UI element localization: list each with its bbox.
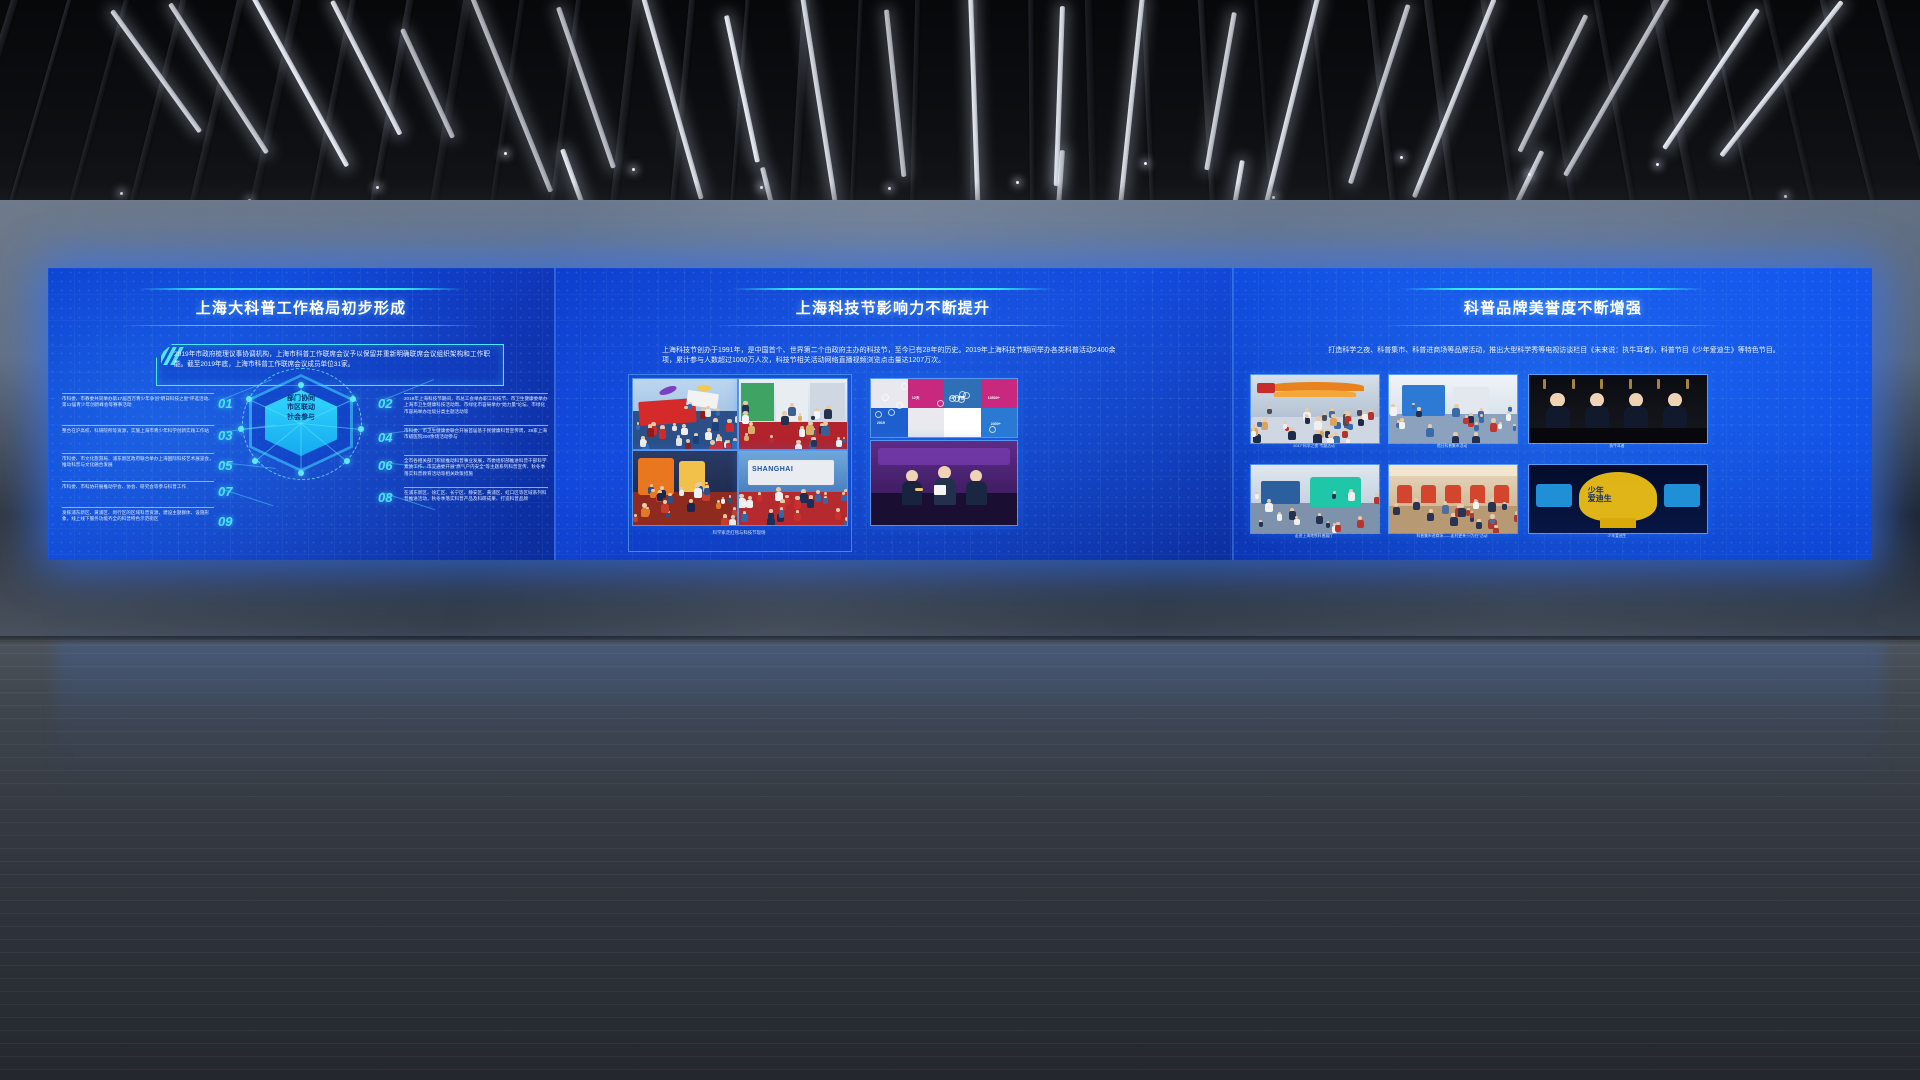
person-head: [970, 470, 982, 482]
person-body: [1458, 508, 1465, 517]
person-body: [824, 409, 832, 419]
person-body: [781, 416, 789, 425]
person-body: [1393, 507, 1400, 515]
left-diagram: 部门协同 市区联动 社会参与 市科委、市教委共同举办第17届百万青少年争创"明日…: [48, 268, 554, 560]
person-body: [841, 495, 846, 501]
person-body: [1374, 497, 1380, 504]
diagram-item: 发挥浦东新区、黄浦区、闵行区的区域科普资源，建设主题群体、设施形象，线上线下服务…: [62, 510, 214, 523]
person-body: [1476, 522, 1482, 529]
person-body: [729, 519, 736, 526]
person-body: [1502, 504, 1507, 509]
person-body: [902, 481, 922, 505]
diagram-item: 市科委、市科协开展推动学会、协会、研究会等参与科普工作: [62, 484, 214, 490]
diagram-item: 市科委、市卫生健康委联合开展首届基于民健康科普宣传周，38家上海市级医院200余…: [404, 428, 548, 441]
panel-right-title: 科普品牌美誉度不断增强: [1362, 297, 1744, 318]
person-body: [769, 438, 774, 444]
person-body: [742, 415, 749, 424]
shanghai-text: SHANGHAI: [752, 466, 793, 473]
photo-award-handshake[interactable]: [870, 440, 1018, 526]
ceiling-light-strip: [400, 28, 455, 139]
photo-corner-marker: [1370, 524, 1380, 534]
shape: [739, 492, 847, 525]
photo-corner-marker: [1250, 464, 1260, 474]
heading-rule-bottom: [714, 325, 1072, 326]
person-body: [1357, 520, 1364, 528]
photo-science-festival-stage-content: [633, 451, 737, 525]
person-body: [1514, 515, 1518, 523]
person-body: [647, 428, 654, 436]
photo-right-0-content: [1251, 375, 1379, 443]
diagram-item-underline: [404, 455, 548, 456]
poster-stat-label: 12天: [912, 396, 920, 401]
diagram-spoke: [301, 424, 302, 474]
panel-right: 科普品牌美誉度不断增强 打造科学之夜、科普集市、科普进商场等品牌活动，推出大型科…: [1232, 268, 1872, 560]
shape: [981, 379, 1018, 408]
photo-right-1[interactable]: [1388, 374, 1518, 444]
person-body: [1442, 505, 1449, 514]
wall-floor-edge: [0, 636, 1920, 646]
diagram-item: 整合在沪高校、科研院所等资源，实施上海市青少年科学创新实践工作站: [62, 428, 214, 434]
person-body: [1470, 513, 1474, 518]
diagram-item-underline: [62, 453, 214, 454]
photo-corner-marker: [1508, 374, 1518, 384]
photo-corner-marker: [1698, 374, 1708, 384]
photo-corner-marker: [1698, 434, 1708, 444]
person-body: [821, 426, 829, 436]
shape: [697, 385, 711, 391]
person-body: [757, 495, 763, 502]
photo-corner-marker: [1370, 434, 1380, 444]
person-body: [807, 499, 814, 508]
person-body: [1368, 412, 1374, 420]
shape: [1389, 465, 1517, 476]
photo-corner-marker: [1008, 440, 1018, 450]
person-body: [715, 441, 723, 450]
shape: [1529, 428, 1707, 443]
person-head: [1629, 393, 1643, 407]
person-body: [1452, 408, 1460, 417]
person-body: [704, 488, 710, 495]
person-body: [693, 436, 699, 443]
photo-award-handshake-content: [871, 441, 1017, 525]
person-body: [1314, 421, 1322, 430]
person-body: [1468, 416, 1474, 423]
shape: [1600, 379, 1603, 389]
person-body: [1283, 424, 1287, 429]
photo-right-1-content: [1389, 375, 1517, 443]
person-body: [1473, 502, 1478, 508]
photo-corner-marker: [1388, 434, 1398, 444]
person-body: [1490, 423, 1498, 432]
diagram-item: 2019年上海科技节期间，市总工会举办职工科技节、市卫生健康委举办上海市卫生健康…: [404, 396, 548, 415]
person-body: [1316, 516, 1322, 524]
shape: [1657, 379, 1660, 389]
ceiling-light-strip: [1517, 14, 1588, 153]
person-body: [1463, 418, 1468, 424]
photo-red-carpet-guests-content: [739, 379, 847, 449]
person-body: [712, 422, 720, 431]
photo-corner-marker: [1388, 374, 1398, 384]
photo-corner-marker: [1388, 524, 1398, 534]
diagram-item-underline: [62, 481, 214, 482]
diagram-item-number: 09: [218, 514, 232, 529]
poster-stat-label: 10500+: [988, 396, 1000, 400]
shape: [638, 458, 673, 495]
person-body: [679, 490, 684, 496]
photo-caption: 2017"科学之夜"专题活动: [1250, 444, 1378, 449]
photo-corner-marker: [1698, 524, 1708, 534]
photo-shanghai-banner[interactable]: SHANGHAI: [738, 450, 848, 526]
person-body: [1294, 519, 1299, 526]
floor: [0, 640, 1920, 1080]
diagram-spoke: [301, 386, 302, 424]
person-body: [716, 411, 720, 416]
photo-corner-marker: [1528, 464, 1538, 474]
person-body: [844, 521, 848, 526]
photo-right-2[interactable]: [1528, 374, 1708, 444]
photo-caption: 走进上海地铁科普展厅: [1250, 534, 1378, 539]
diagram-item-number: 06: [378, 458, 392, 473]
photo-corner-marker: [1008, 516, 1018, 526]
person-body: [1450, 517, 1458, 526]
person-body: [1479, 417, 1484, 423]
panel-right-body: 打造科学之夜、科普集市、科普进商场等品牌活动，推出大型科学秀等电视访谈栏目《未来…: [1304, 346, 1804, 356]
photo-corner-marker: [1508, 524, 1518, 534]
shape: [1600, 518, 1636, 528]
photo-caption: 科学家走红毯与科技节现场: [632, 530, 846, 536]
heading-rule-bottom: [1384, 325, 1722, 326]
scene-root: 上海大科普工作格局初步形成 2019年市政府梳理议事协调机构，上海市科普工作联席…: [0, 0, 1920, 1080]
photo-corner-marker: [1370, 464, 1380, 474]
person-body: [768, 513, 774, 520]
photo-data-poster-grid-content: 12天16个专区10500+2019科普集市2400+: [871, 379, 1017, 437]
person-body: [676, 438, 682, 445]
shape: [878, 448, 1009, 465]
shape: [1494, 485, 1509, 503]
ceiling-light-strip: [640, 0, 704, 200]
poster-icon: [888, 409, 895, 416]
person-body: [1333, 436, 1340, 444]
person-body: [1277, 514, 1282, 520]
person-body: [705, 432, 712, 440]
person-body: [1322, 415, 1327, 421]
person-body: [1335, 525, 1341, 532]
person-body: [726, 443, 731, 449]
diagram-item: 市科委、市文化旅游局、浦东新区政府联合举办上海国际科技艺术展览会，推动科普与文化…: [62, 456, 214, 469]
ceiling-light-strip: [1262, 0, 1321, 213]
ceiling-light-strip: [1412, 0, 1497, 198]
ceiling-spot-light: [1656, 163, 1659, 166]
person-body: [661, 504, 669, 513]
person-body: [1490, 519, 1495, 524]
shape: [1445, 485, 1460, 503]
ceiling-light-strip: [470, 0, 553, 193]
person-body: [1474, 425, 1479, 432]
screen-reflection: [55, 640, 1885, 790]
photo-opening-ceremony-content: [633, 379, 737, 449]
photo-caption: 少年爱迪生: [1528, 534, 1706, 539]
photo-right-4[interactable]: [1388, 464, 1518, 534]
person-body: [815, 494, 822, 502]
person-body: [1261, 422, 1268, 430]
shape: [934, 485, 946, 495]
ceiling-spot-light: [1400, 156, 1403, 159]
person-body: [1257, 422, 1262, 428]
diagram-item-underline: [62, 425, 214, 426]
diagram-item: 在浦东新区、徐汇区、长宁区、静安区、黄浦区、虹口区等区域系列科普推进活动，秋冬季…: [404, 490, 548, 503]
photo-science-festival-stage[interactable]: [632, 450, 738, 526]
edison-logo-text: 少年爱迪生: [1588, 487, 1612, 503]
poster-stat-label: 科普集市: [953, 422, 967, 427]
person-body: [811, 440, 817, 447]
shape: [1543, 379, 1546, 389]
panel-divider-2: [1232, 268, 1234, 560]
person-body: [836, 440, 842, 447]
person-body: [966, 481, 986, 505]
photo-caption: 馆日科普集市活动: [1388, 444, 1516, 449]
person-body: [1313, 434, 1321, 444]
ceiling-spot-light: [504, 152, 507, 155]
person-body: [1288, 431, 1296, 440]
photo-data-poster-grid[interactable]: 12天16个专区10500+2019科普集市2400+: [870, 378, 1018, 438]
person-body: [1472, 436, 1480, 444]
panel-middle: 上海科技节影响力不断提升 上海科技节创办于1991年，是中国首个、世界第二个由政…: [554, 268, 1232, 560]
panel-right-heading: 科普品牌美誉度不断增强: [1362, 288, 1744, 326]
diagram-item-underline: [404, 425, 548, 426]
person-body: [721, 518, 728, 526]
shape: [1397, 485, 1412, 503]
person-body: [1348, 492, 1355, 500]
diagram-item: 市科委、市教委共同举办第17届百万青少年争创"明日科技之星"评选活动、第12届青…: [62, 396, 214, 409]
person-body: [1399, 422, 1405, 429]
photo-corner-marker: [1508, 464, 1518, 474]
photo-corner-marker: [1698, 464, 1708, 474]
photo-caption: 科普集市进商场——走村更亲·只为在"活动: [1388, 534, 1516, 539]
led-video-wall[interactable]: 上海大科普工作格局初步形成 2019年市政府梳理议事协调机构，上海市科普工作联席…: [48, 268, 1872, 560]
person-body: [694, 488, 702, 498]
panel-middle-heading: 上海科技节影响力不断提升: [702, 288, 1084, 326]
person-body: [687, 503, 695, 512]
person-body: [1265, 503, 1273, 512]
person-body: [633, 517, 637, 522]
photo-opening-ceremony[interactable]: [632, 378, 738, 450]
person-body: [726, 423, 734, 432]
person-body: [667, 496, 673, 503]
person-body: [811, 416, 815, 420]
person-body: [1413, 502, 1420, 511]
shape: [1421, 485, 1436, 503]
poster-icon: [875, 411, 882, 418]
person-body: [814, 411, 820, 418]
shape: [739, 422, 847, 449]
photo-corner-marker: [1250, 434, 1260, 444]
person-body: [1362, 414, 1367, 420]
person-body: [1267, 409, 1271, 414]
person-body: [1488, 502, 1496, 512]
shape: [1274, 390, 1356, 397]
photo-corner-marker: [1528, 374, 1538, 384]
person-body: [659, 429, 667, 438]
person-body: [1348, 424, 1353, 430]
person-body: [779, 510, 785, 517]
person-body: [1390, 407, 1397, 415]
photo-shanghai-banner-content: SHANGHAI: [739, 451, 847, 525]
panel-divider-1: [554, 268, 556, 560]
photo-corner-marker: [870, 516, 880, 526]
person-body: [788, 407, 796, 416]
person-head: [906, 470, 918, 482]
shape: [1402, 385, 1446, 416]
shape: [908, 408, 945, 437]
person-body: [823, 498, 828, 503]
person-body: [685, 443, 692, 450]
person-body: [657, 493, 663, 500]
shape: [915, 488, 923, 491]
photo-corner-marker: [870, 440, 880, 450]
diagram-item-number: 05: [218, 458, 232, 473]
photo-right-3[interactable]: [1250, 464, 1380, 534]
person-head: [1550, 393, 1564, 407]
person-body: [1427, 513, 1434, 521]
ceiling-light-strip: [884, 9, 907, 177]
person-body: [1357, 410, 1362, 416]
person-body: [746, 500, 753, 508]
person-body: [835, 512, 842, 520]
diagram-item-underline: [404, 393, 548, 394]
ceiling-light-strip: [168, 2, 269, 154]
person-body: [748, 426, 755, 434]
person-body: [672, 426, 677, 431]
person-body: [716, 503, 722, 510]
photo-red-carpet-guests[interactable]: [738, 378, 848, 450]
photo-corner-marker: [1388, 464, 1398, 474]
person-body: [1506, 414, 1511, 421]
panel-middle-body: 上海科技节创办于1991年，是中国首个、世界第二个由政府主办的科技节，至今已有2…: [662, 346, 1128, 366]
person-body: [798, 416, 802, 421]
person-body: [681, 428, 687, 436]
person-body: [744, 436, 748, 441]
diagram-item-underline: [62, 393, 214, 394]
diagram-item-underline: [404, 487, 548, 488]
person-body: [738, 498, 746, 508]
panel-middle-title: 上海科技节影响力不断提升: [702, 297, 1084, 318]
ceiling-spot-light: [632, 168, 635, 171]
panel-left: 上海大科普工作格局初步形成 2019年市政府梳理议事协调机构，上海市科普工作联席…: [48, 268, 554, 560]
poster-icon: [896, 402, 903, 409]
photo-caption: 执牛耳者: [1528, 444, 1706, 449]
person-body: [1426, 428, 1434, 437]
person-body: [1416, 411, 1422, 418]
person-body: [799, 429, 805, 437]
shape: [1686, 379, 1689, 389]
ceiling-light-strip: [1719, 0, 1844, 158]
person-body: [741, 514, 747, 522]
shape: [1664, 484, 1700, 507]
heading-rule-top: [732, 288, 1054, 290]
diagram-item-underline: [62, 507, 214, 508]
photo-corner-marker: [1250, 524, 1260, 534]
person-body: [705, 409, 711, 416]
person-body: [1255, 494, 1259, 499]
poster-stat-label: 2019: [877, 421, 885, 425]
person-body: [794, 513, 800, 520]
person-body: [728, 498, 732, 503]
person-head: [1590, 393, 1604, 407]
photo-corner-marker: [1250, 374, 1260, 384]
person-body: [640, 439, 646, 447]
photo-right-5[interactable]: 少年爱迪生: [1528, 464, 1708, 534]
photo-right-3-content: [1251, 465, 1379, 533]
photo-right-0[interactable]: [1250, 374, 1380, 444]
photo-corner-marker: [1370, 374, 1380, 384]
ceiling-spot-light: [1144, 162, 1147, 165]
photo-corner-marker: [1508, 434, 1518, 444]
person-body: [1330, 418, 1337, 427]
photo-corner-marker: [1528, 524, 1538, 534]
person-head: [1668, 393, 1682, 407]
person-body: [650, 492, 655, 498]
person-body: [683, 409, 689, 417]
person-body: [1513, 426, 1517, 430]
shape: [1629, 379, 1632, 389]
person-body: [1305, 418, 1309, 423]
person-body: [645, 509, 650, 515]
photo-right-5-content: 少年爱迪生: [1529, 465, 1707, 533]
person-body: [794, 500, 802, 509]
shape: [1572, 379, 1575, 389]
person-body: [636, 425, 640, 430]
shape: [1257, 383, 1275, 393]
photo-corner-marker: [1528, 434, 1538, 444]
heading-rule-top: [1402, 288, 1704, 290]
photo-right-2-content: [1529, 375, 1707, 443]
shape: [1536, 484, 1572, 507]
person-body: [1452, 436, 1459, 444]
photo-right-4-content: [1389, 465, 1517, 533]
person-body: [806, 425, 814, 434]
